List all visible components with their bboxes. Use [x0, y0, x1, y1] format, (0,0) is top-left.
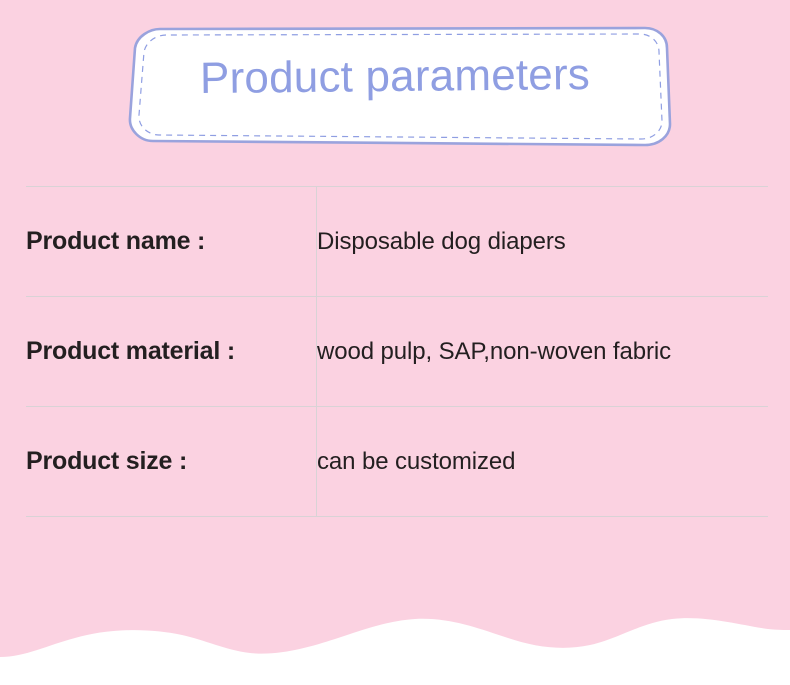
table-row: Product size : can be customized — [26, 407, 768, 517]
parameter-value-product-size: can be customized — [317, 407, 769, 517]
parameter-label-product-name: Product name : — [26, 187, 317, 297]
table-row: Product material : wood pulp, SAP,non-wo… — [26, 297, 768, 407]
parameter-label-product-material: Product material : — [26, 297, 317, 407]
table-body: Product name : Disposable dog diapers Pr… — [26, 187, 768, 517]
page-title: Product parameters — [0, 48, 790, 106]
parameter-value-product-name: Disposable dog diapers — [317, 187, 769, 297]
product-parameters-table: Product name : Disposable dog diapers Pr… — [26, 186, 768, 517]
parameter-label-product-size: Product size : — [26, 407, 317, 517]
product-parameters-page: Product parameters Product name : Dispos… — [0, 0, 790, 685]
wave-path — [0, 618, 790, 685]
table-row: Product name : Disposable dog diapers — [26, 187, 768, 297]
parameter-value-product-material: wood pulp, SAP,non-woven fabric — [317, 297, 769, 407]
bottom-wave-decoration — [0, 595, 790, 685]
header-banner: Product parameters — [0, 0, 790, 165]
